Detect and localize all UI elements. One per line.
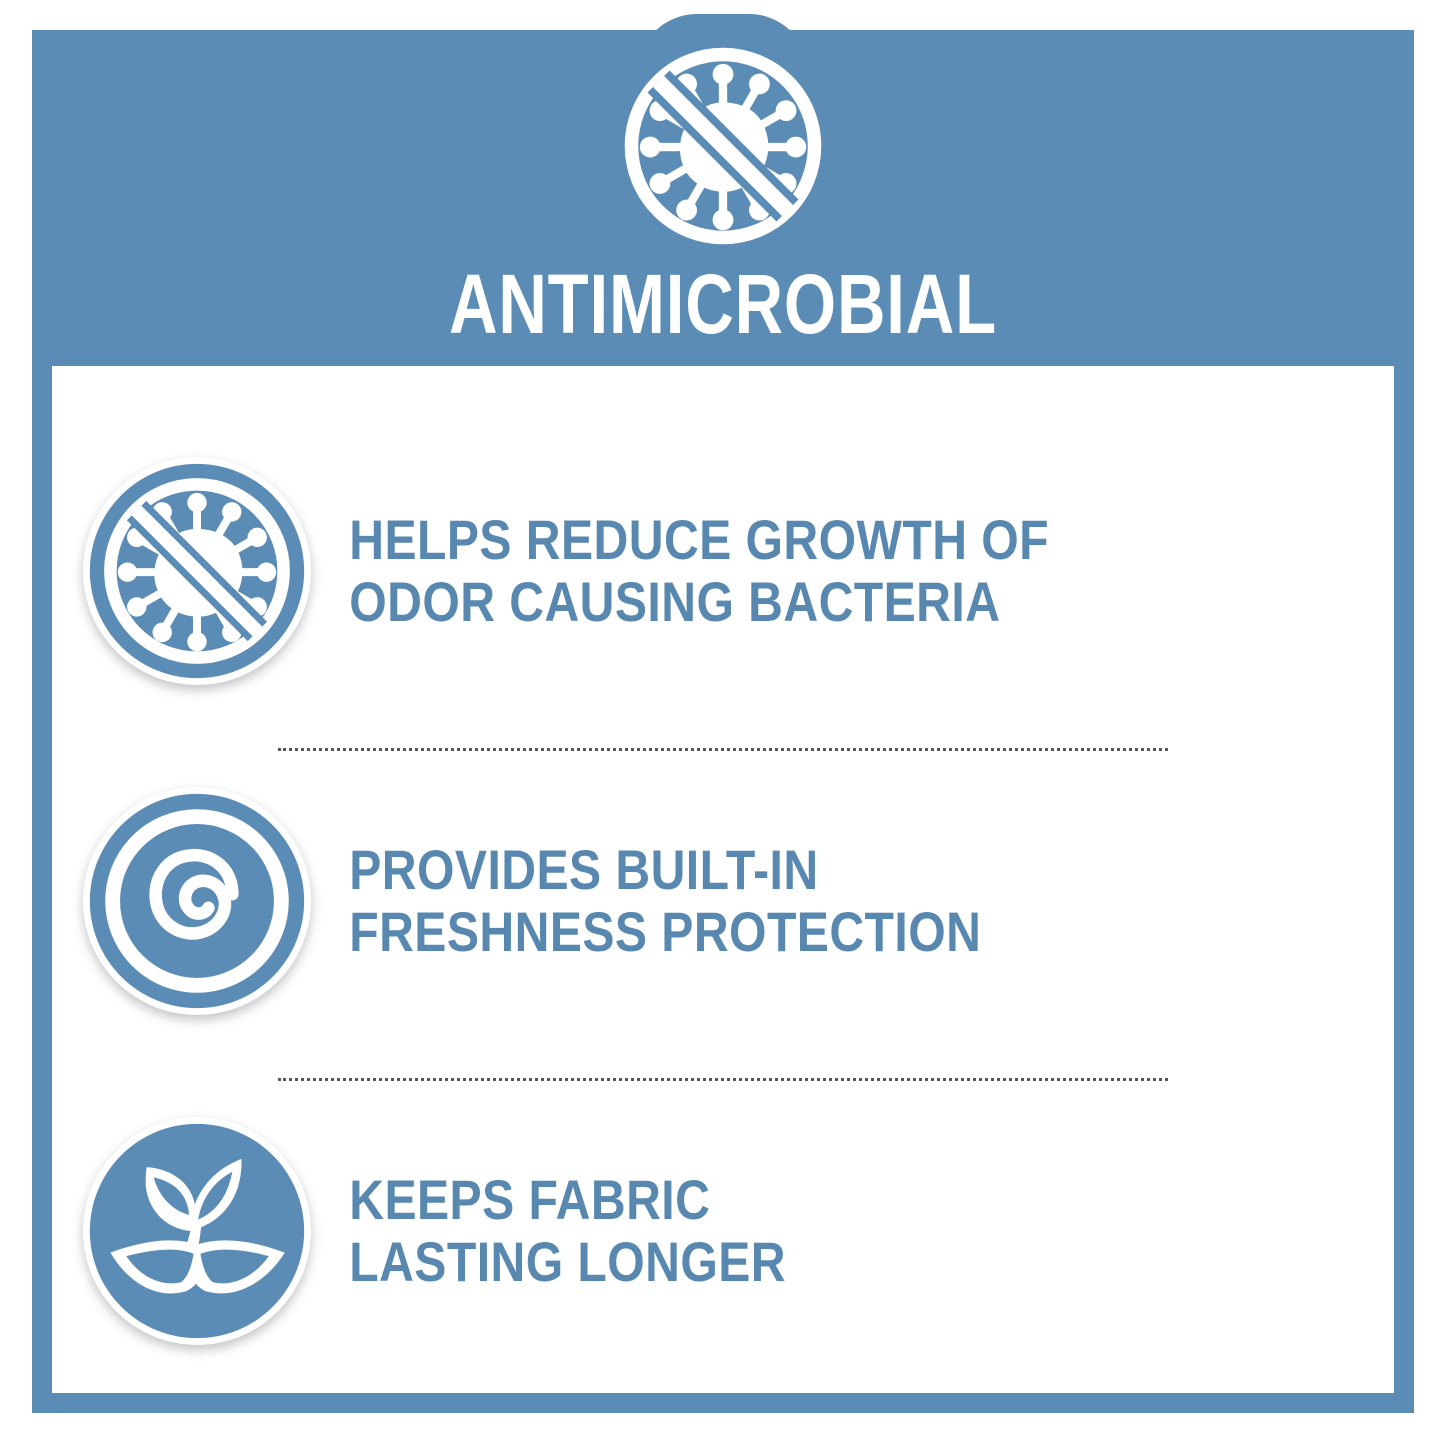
feature-row: KEEPS FABRIC LASTING LONGER [52, 1066, 1394, 1396]
header: ANTIMICROBIAL [32, 30, 1414, 366]
content-card: HELPS REDUCE GROWTH OF ODOR CAUSING BACT… [52, 366, 1394, 1393]
feature-icon-cell [52, 457, 320, 685]
feature-text: PROVIDES BUILT-IN FRESHNESS PROTECTION [320, 839, 981, 963]
shield-swirl-badge-icon [83, 787, 311, 1015]
feature-icon-cell [52, 787, 320, 1015]
no-germ-icon [619, 42, 827, 250]
page-title: ANTIMICROBIAL [170, 258, 1276, 350]
feature-list: HELPS REDUCE GROWTH OF ODOR CAUSING BACT… [52, 366, 1394, 1393]
feature-text: HELPS REDUCE GROWTH OF ODOR CAUSING BACT… [320, 509, 1049, 633]
feature-text: KEEPS FABRIC LASTING LONGER [320, 1169, 786, 1293]
no-germ-badge-icon [83, 457, 311, 685]
feature-icon-cell [52, 1117, 320, 1345]
feature-row: HELPS REDUCE GROWTH OF ODOR CAUSING BACT… [52, 406, 1394, 736]
leaf-sprout-badge-icon [83, 1117, 311, 1345]
infographic-panel: ANTIMICROBIAL [32, 30, 1414, 1413]
feature-row: PROVIDES BUILT-IN FRESHNESS PROTECTION [52, 736, 1394, 1066]
